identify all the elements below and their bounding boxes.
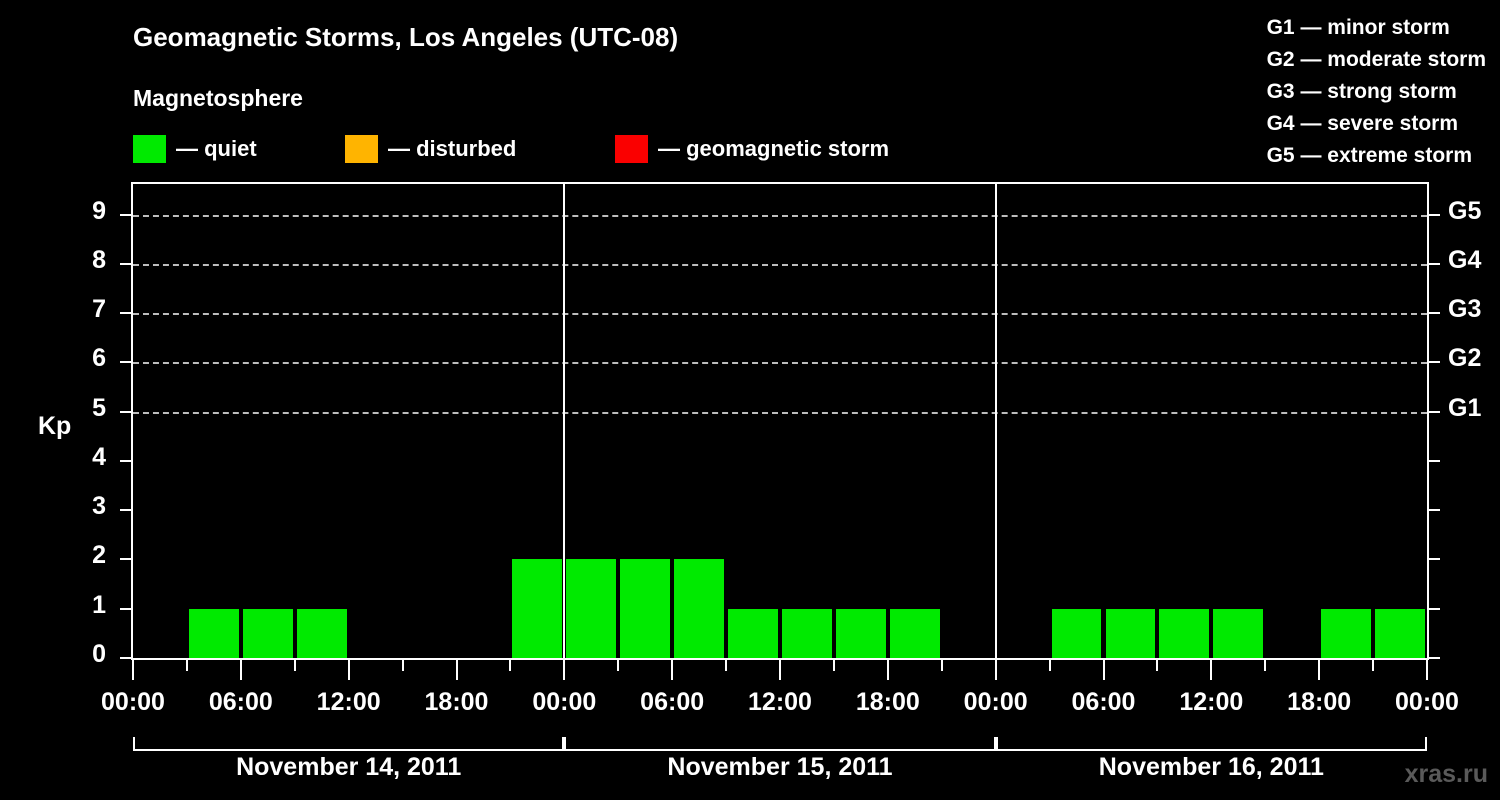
gridline-kp-7 <box>133 313 1427 315</box>
x-tick <box>1156 660 1158 671</box>
day-separator <box>995 184 997 658</box>
x-tick-label: 06:00 <box>640 688 704 717</box>
bar <box>674 559 724 658</box>
legend-swatch-disturbed <box>345 135 378 163</box>
bar <box>297 609 347 658</box>
y-tick-label-8: 8 <box>46 246 106 275</box>
y-tick-right-1 <box>1429 608 1440 610</box>
legend-item-disturbed: — disturbed <box>345 133 516 165</box>
g-tick-label-g5: G5 <box>1448 197 1481 226</box>
y-tick-label-0: 0 <box>46 640 106 669</box>
x-tick <box>887 660 889 680</box>
bar <box>189 609 239 658</box>
y-tick-right-8 <box>1429 263 1440 265</box>
x-tick-label: 00:00 <box>964 688 1028 717</box>
g-tick-label-g3: G3 <box>1448 295 1481 324</box>
y-tick-label-1: 1 <box>46 591 106 620</box>
x-tick <box>509 660 511 671</box>
x-tick <box>1426 660 1428 680</box>
page-title: Geomagnetic Storms, Los Angeles (UTC-08) <box>133 22 678 53</box>
x-tick-label: 12:00 <box>748 688 812 717</box>
y-tick-right-0 <box>1429 657 1440 659</box>
bar <box>620 559 670 658</box>
g-tick-label-g2: G2 <box>1448 344 1481 373</box>
y-tick-right-5 <box>1429 411 1440 413</box>
g-tick-label-g4: G4 <box>1448 246 1481 275</box>
x-tick <box>833 660 835 671</box>
x-tick <box>941 660 943 671</box>
x-tick-label: 00:00 <box>101 688 165 717</box>
y-tick-3 <box>120 509 131 511</box>
plot-area <box>131 182 1429 660</box>
bar <box>782 609 832 658</box>
g-scale-row-g3: G3 — strong storm <box>1267 76 1486 108</box>
y-tick-right-2 <box>1429 558 1440 560</box>
x-tick <box>671 660 673 680</box>
day-label: November 15, 2011 <box>667 753 892 782</box>
bar <box>243 609 293 658</box>
y-tick-label-9: 9 <box>46 197 106 226</box>
day-bracket <box>996 737 1427 751</box>
x-tick <box>1318 660 1320 680</box>
day-label: November 14, 2011 <box>236 753 461 782</box>
g-scale-row-g4: G4 — severe storm <box>1267 108 1486 140</box>
y-tick-5 <box>120 411 131 413</box>
bar <box>1106 609 1156 658</box>
x-tick-label: 06:00 <box>1072 688 1136 717</box>
x-tick-label: 00:00 <box>532 688 596 717</box>
bar <box>728 609 778 658</box>
legend-label-quiet: — quiet <box>176 136 257 162</box>
x-tick <box>1264 660 1266 671</box>
y-tick-2 <box>120 558 131 560</box>
y-tick-8 <box>120 263 131 265</box>
y-tick-label-2: 2 <box>46 541 106 570</box>
y-tick-7 <box>120 312 131 314</box>
x-tick <box>402 660 404 671</box>
bar <box>836 609 886 658</box>
y-tick-label-6: 6 <box>46 344 106 373</box>
g-scale-row-g1: G1 — minor storm <box>1267 12 1486 44</box>
legend-swatch-quiet <box>133 135 166 163</box>
day-separator <box>563 184 565 658</box>
x-tick <box>725 660 727 671</box>
legend-item-quiet: — quiet <box>133 133 257 165</box>
x-tick <box>456 660 458 680</box>
x-tick-label: 12:00 <box>317 688 381 717</box>
x-tick <box>1210 660 1212 680</box>
day-bracket <box>564 737 995 751</box>
y-tick-label-3: 3 <box>46 492 106 521</box>
y-tick-6 <box>120 361 131 363</box>
g-scale-row-g2: G2 — moderate storm <box>1267 44 1486 76</box>
gridline-kp-6 <box>133 362 1427 364</box>
y-tick-1 <box>120 608 131 610</box>
x-tick <box>1103 660 1105 680</box>
x-tick-label: 18:00 <box>425 688 489 717</box>
y-tick-right-6 <box>1429 361 1440 363</box>
legend-swatch-geomagnetic-storm <box>615 135 648 163</box>
day-bracket <box>133 737 564 751</box>
x-tick <box>132 660 134 680</box>
gridline-kp-8 <box>133 264 1427 266</box>
x-tick <box>1372 660 1374 671</box>
bar <box>1321 609 1371 658</box>
legend-item-geomagnetic-storm: — geomagnetic storm <box>615 133 889 165</box>
y-tick-4 <box>120 460 131 462</box>
day-label: November 16, 2011 <box>1099 753 1324 782</box>
x-tick <box>186 660 188 671</box>
x-tick <box>294 660 296 671</box>
y-tick-label-4: 4 <box>46 443 106 472</box>
bar <box>1213 609 1263 658</box>
chart-root: Geomagnetic Storms, Los Angeles (UTC-08)… <box>0 0 1500 800</box>
y-tick-label-7: 7 <box>46 295 106 324</box>
g-scale-row-g5: G5 — extreme storm <box>1267 140 1486 172</box>
legend-label-disturbed: — disturbed <box>388 136 516 162</box>
y-tick-label-5: 5 <box>46 394 106 423</box>
legend-label-geomagnetic-storm: — geomagnetic storm <box>658 136 889 162</box>
bar <box>1159 609 1209 658</box>
x-tick-label: 06:00 <box>209 688 273 717</box>
bar <box>512 559 562 658</box>
bar <box>566 559 616 658</box>
gridline-kp-5 <box>133 412 1427 414</box>
x-tick <box>617 660 619 671</box>
x-tick <box>1049 660 1051 671</box>
x-tick-label: 18:00 <box>856 688 920 717</box>
y-tick-right-3 <box>1429 509 1440 511</box>
x-tick <box>779 660 781 680</box>
x-tick-label: 18:00 <box>1287 688 1351 717</box>
g-scale-legend: G1 — minor storm G2 — moderate storm G3 … <box>1267 12 1486 172</box>
y-tick-right-9 <box>1429 214 1440 216</box>
x-tick <box>240 660 242 680</box>
x-tick-label: 00:00 <box>1395 688 1459 717</box>
y-tick-right-4 <box>1429 460 1440 462</box>
chart-subtitle: Magnetosphere <box>133 85 303 112</box>
watermark: xras.ru <box>1405 760 1488 789</box>
g-tick-label-g1: G1 <box>1448 394 1481 423</box>
x-tick-label: 12:00 <box>1179 688 1243 717</box>
bar <box>1052 609 1102 658</box>
gridline-kp-9 <box>133 215 1427 217</box>
plot-inner <box>133 184 1427 658</box>
x-tick <box>995 660 997 680</box>
bar <box>1375 609 1425 658</box>
y-tick-right-7 <box>1429 312 1440 314</box>
x-tick <box>563 660 565 680</box>
y-tick-0 <box>120 657 131 659</box>
x-tick <box>348 660 350 680</box>
y-tick-9 <box>120 214 131 216</box>
bar <box>890 609 940 658</box>
